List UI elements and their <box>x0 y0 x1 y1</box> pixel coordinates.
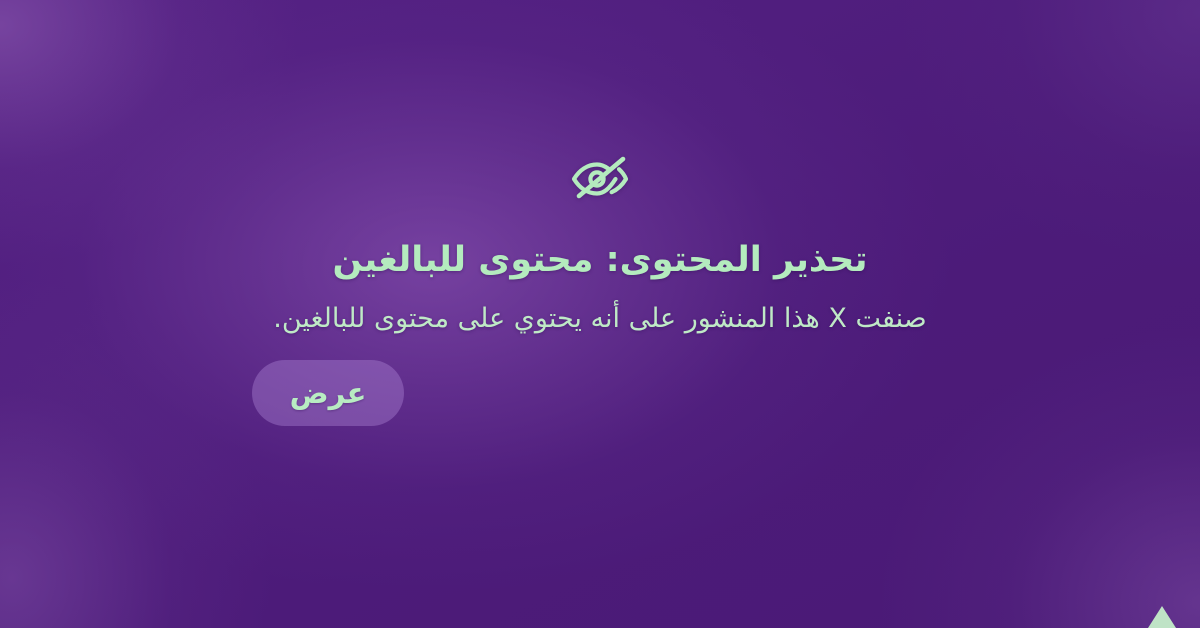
caret-up-icon <box>1148 606 1176 628</box>
content-warning-card: تحذير المحتوى: محتوى للبالغين صنفت X هذا… <box>0 148 1200 426</box>
content-warning-screen: تحذير المحتوى: محتوى للبالغين صنفت X هذا… <box>0 0 1200 628</box>
page-title: تحذير المحتوى: محتوى للبالغين <box>333 238 868 283</box>
eye-off-icon <box>563 148 637 210</box>
view-button[interactable]: عرض <box>252 360 404 426</box>
warning-description: صنفت X هذا المنشور على أنه يحتوي على محت… <box>273 300 926 338</box>
action-row: عرض <box>0 360 1200 426</box>
